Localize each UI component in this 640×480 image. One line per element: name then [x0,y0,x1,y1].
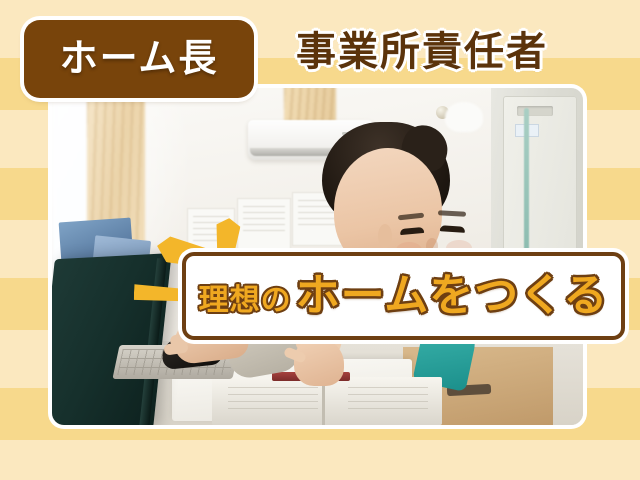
eyebrow-right [438,210,466,216]
catchphrase-main: ホームをつくる [296,274,609,318]
book-text-right [348,387,428,415]
eye-right [440,225,465,233]
role-badge-label: ホーム長 [60,40,219,78]
book-text-left [228,387,318,415]
catchphrase-bubble: 理想の ホームをつくる [182,252,625,340]
locker-slot [517,106,553,116]
catchphrase-text: 理想の ホームをつくる [199,274,609,318]
page-title: 事業所責任者 [296,32,548,72]
recruit-banner: 事業所責任者 ホーム長 理想の ホームをつくる [0,0,640,480]
eyebrow-left [398,213,424,221]
catchphrase-prefix: 理想の [199,286,292,316]
role-badge: ホーム長 [24,20,254,98]
ear [378,224,392,248]
eye-left [400,227,424,235]
